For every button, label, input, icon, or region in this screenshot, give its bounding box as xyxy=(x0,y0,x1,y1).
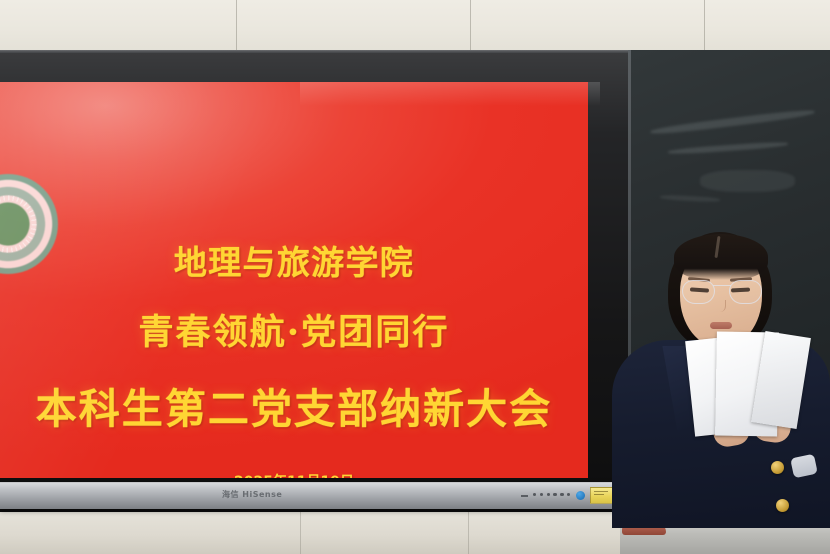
display-frame-highlight xyxy=(0,50,628,53)
wall-panel-seam xyxy=(704,0,705,54)
wall-panel-seam xyxy=(236,0,237,54)
student-speaker xyxy=(612,228,830,528)
presentation-screen[interactable]: 地理与旅游学院 青春领航·党团同行 本科生第二党支部纳新大会 2025年11月1… xyxy=(0,82,588,478)
classroom-photo: 地理与旅游学院 青春领航·党团同行 本科生第二党支部纳新大会 2025年11月1… xyxy=(0,0,830,554)
slide-text-block: 地理与旅游学院 青春领航·党团同行 本科生第二党支部纳新大会 2025年11月1… xyxy=(0,164,588,478)
display-brand-logo: 海信 HiSense xyxy=(222,489,282,500)
blazer-button xyxy=(776,499,789,512)
display-button[interactable] xyxy=(553,493,556,496)
wall-panel-seam xyxy=(468,508,469,554)
slide-title-line-2: 青春领航·党团同行 xyxy=(138,304,449,355)
mouth xyxy=(710,322,732,329)
hair-top xyxy=(674,234,768,280)
glasses-bridge xyxy=(713,285,731,286)
glasses-lens-right xyxy=(729,280,762,304)
slide-title-line-3: 本科生第二党支部纳新大会 xyxy=(36,375,553,435)
glasses-lens-left xyxy=(682,280,715,304)
display-port-marking xyxy=(521,495,528,497)
display-button[interactable] xyxy=(560,493,563,496)
blazer-button xyxy=(771,461,784,474)
wall-panel-seam xyxy=(470,0,471,54)
power-indicator-icon[interactable] xyxy=(576,491,585,500)
wall-panel-seam xyxy=(300,508,301,554)
sticker-line xyxy=(594,491,608,492)
display-button-row[interactable] xyxy=(533,493,570,496)
display-button[interactable] xyxy=(540,493,543,496)
upper-wall xyxy=(0,0,830,54)
slide-title-line-1: 地理与旅游学院 xyxy=(174,236,414,284)
display-button[interactable] xyxy=(567,493,570,496)
slide-date: 2025年11月19日 xyxy=(234,471,354,478)
display-button[interactable] xyxy=(533,493,536,496)
display-button[interactable] xyxy=(547,493,550,496)
sticker-line xyxy=(594,494,604,495)
chalk-mark xyxy=(700,170,795,192)
lower-wall xyxy=(0,508,640,554)
